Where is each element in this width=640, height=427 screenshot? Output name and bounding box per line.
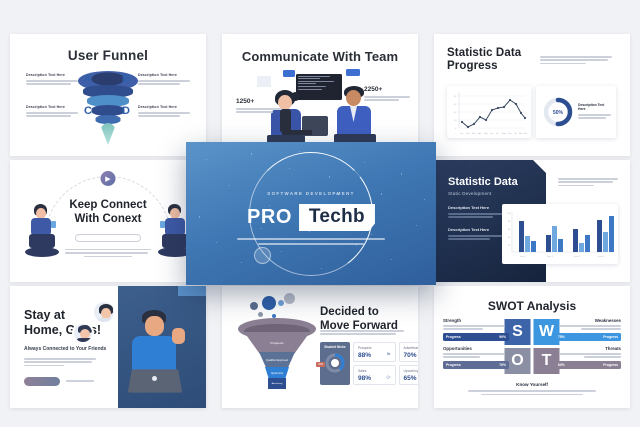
svg-text:60: 60 — [508, 229, 511, 231]
stat-left-block: 1250+ — [236, 98, 282, 115]
hero-wordmark: PRO Techb — [247, 204, 375, 231]
placeholder-text — [578, 114, 611, 119]
placeholder-text — [555, 353, 621, 358]
svg-text:Item 1: Item 1 — [520, 255, 527, 258]
donut-chart-card[interactable]: 50% Description Text Here — [536, 86, 616, 138]
statistic-data-item-1: Description Text Here — [448, 205, 506, 218]
placeholder-text — [26, 112, 78, 117]
placeholder-text — [443, 353, 509, 358]
slide-communicate-with-team[interactable]: Communicate With Team — [222, 34, 418, 156]
hero-subtitle-placeholder — [237, 238, 385, 247]
student-niche-value: 40% — [316, 362, 325, 367]
flag-icon: ⚑ — [386, 352, 392, 358]
placeholder-text — [138, 112, 190, 117]
svg-text:Mar: Mar — [472, 133, 476, 135]
svg-text:Oct: Oct — [514, 132, 518, 135]
svg-text:Apr: Apr — [478, 132, 481, 135]
swot-footer: Know Yourself — [434, 382, 630, 397]
svg-text:20: 20 — [508, 245, 511, 247]
funnel-stage-label: Qualified Approved — [266, 359, 288, 362]
kpi-advertisement[interactable]: Advertisement 70% ⌂ — [399, 342, 419, 362]
svg-text:Aug: Aug — [502, 132, 506, 135]
line-chart: 8060 40200 JanFebMar AprMayJun JulAugSep… — [447, 86, 531, 138]
svg-text:Item 3: Item 3 — [574, 255, 581, 258]
user-funnel-body: Description Text Here A Description Text… — [10, 67, 206, 153]
keyboard-icon — [282, 130, 312, 135]
stat-left-value: 1250+ — [236, 98, 282, 105]
stat-right-block: 2250+ — [364, 86, 410, 103]
badge-icon — [346, 69, 360, 76]
placeholder-text — [540, 56, 612, 66]
slide-user-funnel[interactable]: User Funnel Description Text Here A — [10, 34, 206, 156]
avatar — [72, 322, 94, 344]
svg-text:Feb: Feb — [466, 133, 470, 135]
swot-opportunities: Opportunities Progress 70% — [443, 346, 509, 369]
communicate-title: Communicate With Team — [222, 49, 418, 64]
slide-gallery: User Funnel Description Text Here A — [0, 0, 640, 427]
swot-threats: Threats Progress 60% — [555, 346, 621, 369]
donut-center-label: 50% — [553, 110, 564, 116]
donut-caption-block: Description Text Here — [578, 103, 611, 121]
bubble — [262, 296, 276, 310]
statistic-data-title: Statistic Data — [448, 176, 546, 188]
funnel-graphic-icon: Prospects Qualified Approved Opportunity… — [238, 318, 316, 392]
svg-text:40: 40 — [508, 237, 511, 239]
kpi-sales[interactable]: Sales 98% ⟳ — [353, 365, 396, 385]
swot-letter-grid: S W O T — [505, 319, 560, 374]
slide-decided-move-forward[interactable]: Prospects Qualified Approved Opportunity… — [222, 286, 418, 408]
swot-title: SWOT Analysis — [434, 299, 630, 313]
kpi-prospect[interactable]: Prospect 88% ⚑ — [353, 342, 396, 362]
hero-word-chip: Techb — [299, 204, 375, 231]
swot-strength-bar: Progress 90% — [443, 333, 509, 341]
svg-text:40: 40 — [454, 112, 457, 114]
bubble — [258, 312, 263, 317]
svg-text:60: 60 — [454, 104, 457, 106]
funnel-desc-a: Description Text Here — [26, 73, 78, 87]
placeholder-text — [364, 96, 410, 101]
hero-word-pro: PRO — [247, 206, 292, 229]
svg-text:Sep: Sep — [508, 133, 512, 135]
device-icon: ▶ — [101, 171, 116, 186]
swot-opportunities-bar: Progress 70% — [443, 361, 509, 369]
hero-eyebrow: Software Development — [266, 190, 356, 197]
badge-icon — [283, 70, 295, 77]
funnel-stage-label: Prospects — [270, 341, 283, 345]
svg-text:Dec: Dec — [524, 133, 528, 135]
svg-text:Jul: Jul — [496, 133, 499, 135]
swot-weaknesses-bar: Progress 75% — [555, 333, 621, 341]
placeholder-text — [555, 325, 621, 330]
bubble — [278, 300, 284, 306]
swot-threats-bar: Progress 60% — [555, 361, 621, 369]
bubble — [284, 293, 295, 304]
stat-right-value: 2250+ — [364, 86, 410, 93]
kpi-upcoming[interactable]: Upcoming 65% ⟳ — [399, 365, 419, 385]
slide-statistic-data[interactable]: Statistic Data Static Development Descri… — [434, 160, 630, 282]
ring-knob — [254, 247, 271, 264]
read-more-button[interactable] — [24, 377, 60, 386]
svg-text:80: 80 — [508, 221, 511, 223]
svg-text:May: May — [484, 133, 488, 135]
placeholder-text — [320, 330, 404, 337]
kpi-grid: Prospect 88% ⚑ Advertisement 70% ⌂ Sales… — [353, 342, 418, 385]
decor-shape — [178, 286, 206, 296]
bubble — [250, 302, 258, 310]
placeholder-text — [138, 80, 190, 85]
funnel-letter-b: B — [122, 73, 130, 85]
bar-chart: 1008060 4020 Item — [502, 204, 618, 264]
avatar — [92, 300, 116, 324]
home-illustration — [118, 286, 206, 408]
donut-caption: Description Text Here — [578, 103, 611, 111]
line-chart-card[interactable]: 8060 40200 JanFebMar AprMayJun JulAugSep… — [447, 86, 531, 138]
funnel-desc-b: Description Text Here — [138, 73, 190, 87]
funnel-letter-d: D — [122, 105, 130, 117]
secondary-link[interactable] — [66, 380, 94, 383]
slide-keep-connect[interactable]: ▶ Keep Connect With Conext — [10, 160, 206, 282]
svg-text:Jan: Jan — [460, 133, 463, 135]
placeholder-text — [448, 213, 506, 218]
placeholder-text — [24, 358, 96, 366]
communicate-illustration: 1250+ 2250+ — [222, 64, 418, 148]
funnel-stage-label: Advertising — [272, 383, 283, 385]
funnel-stage-label: Opportunity — [271, 372, 283, 375]
person-waving — [128, 310, 188, 408]
svg-text:Nov: Nov — [519, 133, 523, 135]
student-niche-label: Student Niche — [320, 345, 350, 349]
slide-statistic-data-progress[interactable]: Statistic Data Progress — [434, 34, 630, 156]
slide-swot-analysis[interactable]: SWOT Analysis S W O T Strength Progress … — [434, 286, 630, 408]
placeholder-text — [26, 80, 78, 85]
placeholder-text — [443, 325, 509, 330]
refresh-icon: ⟳ — [386, 375, 392, 381]
note-icon — [257, 76, 271, 87]
placeholder-text — [236, 108, 282, 113]
svg-text:Jun: Jun — [490, 133, 493, 135]
funnel-letter-a: A — [84, 73, 92, 85]
svg-text:Item 2: Item 2 — [547, 255, 554, 258]
student-niche-card[interactable]: Student Niche 40% — [320, 342, 350, 385]
person-sitting-left — [22, 204, 66, 266]
svg-text:Item 4: Item 4 — [598, 255, 605, 258]
svg-text:100: 100 — [507, 213, 511, 215]
statistic-data-subtitle: Static Development — [448, 191, 546, 196]
placeholder-text — [468, 390, 596, 395]
funnel-letter-c: C — [84, 105, 92, 117]
swot-footer-heading: Know Yourself — [434, 382, 630, 387]
funnel-desc-d: Description Text Here — [138, 105, 190, 119]
placeholder-text — [558, 178, 618, 188]
bar-chart-card[interactable]: 1008060 4020 Item — [502, 204, 618, 264]
slide-stay-at-home[interactable]: Stay at Home, Guys! Always Connected to … — [10, 286, 206, 408]
svg-text:0: 0 — [455, 128, 457, 130]
user-funnel-title: User Funnel — [10, 48, 206, 63]
slide-hero-title[interactable]: Software Development PRO Techb — [186, 142, 436, 285]
svg-text:80: 80 — [454, 96, 457, 98]
statistic-data-item-2: Description Text Here — [448, 227, 506, 240]
swot-strength: Strength Progress 90% — [443, 318, 509, 341]
funnel-desc-c: Description Text Here — [26, 105, 78, 119]
swot-weaknesses: Weaknesses Progress 75% — [555, 318, 621, 341]
placeholder-text — [448, 235, 506, 240]
svg-text:20: 20 — [454, 120, 457, 122]
